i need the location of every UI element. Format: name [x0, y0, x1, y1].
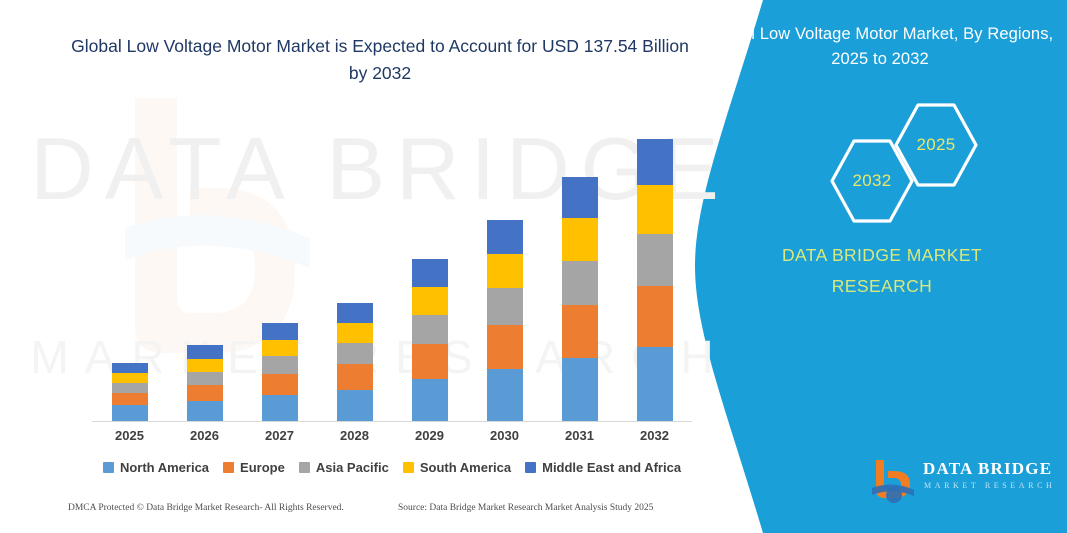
bar-segment-middle-east-and-africa: [637, 139, 673, 185]
legend-item-middle-east-and-africa[interactable]: Middle East and Africa: [525, 460, 681, 475]
bar-segment-asia-pacific: [412, 315, 448, 344]
axis-baseline: [92, 421, 692, 422]
bar-segment-north-america: [337, 390, 373, 421]
legend-item-south-america[interactable]: South America: [403, 460, 511, 475]
bar-2030: [487, 220, 523, 421]
bar-segment-middle-east-and-africa: [337, 303, 373, 323]
x-label-2029: 2029: [415, 428, 444, 443]
legend-label: Middle East and Africa: [542, 460, 681, 475]
legend-label: North America: [120, 460, 209, 475]
bar-segment-europe: [187, 385, 223, 401]
hexagon-label-2032: 2032: [852, 171, 891, 191]
bar-segment-south-america: [487, 254, 523, 289]
legend-swatch: [525, 462, 536, 473]
bar-2028: [337, 303, 373, 421]
bar-2025: [112, 363, 148, 421]
x-axis-labels: 20252026202720282029203020312032: [92, 428, 692, 448]
bar-2027: [262, 323, 298, 421]
bar-segment-south-america: [637, 185, 673, 234]
bar-segment-south-america: [562, 218, 598, 260]
bar-segment-south-america: [337, 323, 373, 343]
legend-label: Asia Pacific: [316, 460, 389, 475]
bar-segment-europe: [112, 393, 148, 405]
legend-item-europe[interactable]: Europe: [223, 460, 285, 475]
x-label-2031: 2031: [565, 428, 594, 443]
legend-label: South America: [420, 460, 511, 475]
bar-segment-asia-pacific: [112, 383, 148, 393]
bar-segment-asia-pacific: [637, 234, 673, 286]
bar-segment-middle-east-and-africa: [487, 220, 523, 253]
footer: DMCA Protected © Data Bridge Market Rese…: [0, 503, 720, 525]
chart-area: DATA BRIDGE MARKET RESEARCH Global Low V…: [0, 0, 720, 533]
bar-segment-middle-east-and-africa: [562, 177, 598, 218]
legend-swatch: [103, 462, 114, 473]
bar-segment-north-america: [487, 369, 523, 421]
brand-line-1: DATA BRIDGE MARKET: [707, 240, 1057, 271]
panel-title: Global Low Voltage Motor Market, By Regi…: [705, 22, 1055, 72]
hexagon-label-2025: 2025: [916, 135, 955, 155]
legend-swatch: [223, 462, 234, 473]
infographic-root: DATA BRIDGE MARKET RESEARCH Global Low V…: [0, 0, 1067, 533]
bar-2032: [637, 139, 673, 421]
hexagon-badge-2025: 2025: [888, 97, 984, 193]
legend-swatch: [299, 462, 310, 473]
bar-segment-europe: [262, 374, 298, 395]
legend-item-asia-pacific[interactable]: Asia Pacific: [299, 460, 389, 475]
bar-segment-europe: [637, 286, 673, 347]
bar-segment-asia-pacific: [562, 261, 598, 306]
stacked-bar-plot: [92, 110, 692, 422]
brand-line-2: RESEARCH: [707, 271, 1057, 302]
logo-text-primary: DATA BRIDGE: [923, 459, 1052, 479]
bar-segment-europe: [487, 325, 523, 368]
bar-segment-asia-pacific: [187, 372, 223, 385]
bar-segment-south-america: [262, 340, 298, 357]
bar-segment-south-america: [187, 359, 223, 372]
x-label-2028: 2028: [340, 428, 369, 443]
bar-segment-europe: [337, 364, 373, 390]
bar-segment-north-america: [562, 358, 598, 422]
bar-segment-asia-pacific: [337, 343, 373, 364]
legend-label: Europe: [240, 460, 285, 475]
bar-2026: [187, 345, 223, 421]
data-bridge-logo-icon: [867, 457, 917, 505]
company-logo: DATA BRIDGE MARKET RESEARCH: [867, 455, 1057, 507]
legend-swatch: [403, 462, 414, 473]
page-title: Global Low Voltage Motor Market is Expec…: [60, 33, 700, 87]
bar-segment-north-america: [412, 379, 448, 421]
x-label-2027: 2027: [265, 428, 294, 443]
chart-legend: North AmericaEuropeAsia PacificSouth Ame…: [92, 456, 692, 478]
x-label-2025: 2025: [115, 428, 144, 443]
x-label-2030: 2030: [490, 428, 519, 443]
right-brand-panel: Global Low Voltage Motor Market, By Regi…: [687, 0, 1067, 533]
bar-2031: [562, 177, 598, 421]
bar-segment-asia-pacific: [262, 356, 298, 374]
footer-copyright: DMCA Protected © Data Bridge Market Rese…: [68, 503, 344, 513]
bar-2029: [412, 259, 448, 421]
bar-segment-north-america: [262, 395, 298, 421]
bar-segment-north-america: [187, 401, 223, 421]
bar-segment-europe: [412, 344, 448, 379]
bar-segment-europe: [562, 305, 598, 357]
bar-segment-middle-east-and-africa: [262, 323, 298, 340]
bar-segment-middle-east-and-africa: [187, 345, 223, 358]
x-label-2032: 2032: [640, 428, 669, 443]
x-label-2026: 2026: [190, 428, 219, 443]
bar-segment-middle-east-and-africa: [112, 363, 148, 373]
bar-segment-asia-pacific: [487, 288, 523, 325]
footer-source: Source: Data Bridge Market Research Mark…: [398, 503, 653, 513]
bar-segment-middle-east-and-africa: [412, 259, 448, 287]
bar-segment-north-america: [637, 347, 673, 421]
brand-name: DATA BRIDGE MARKET RESEARCH: [707, 240, 1057, 302]
bar-segment-south-america: [412, 287, 448, 315]
logo-text-secondary: MARKET RESEARCH: [924, 481, 1055, 490]
legend-item-north-america[interactable]: North America: [103, 460, 209, 475]
bar-segment-south-america: [112, 373, 148, 383]
bar-segment-north-america: [112, 405, 148, 421]
